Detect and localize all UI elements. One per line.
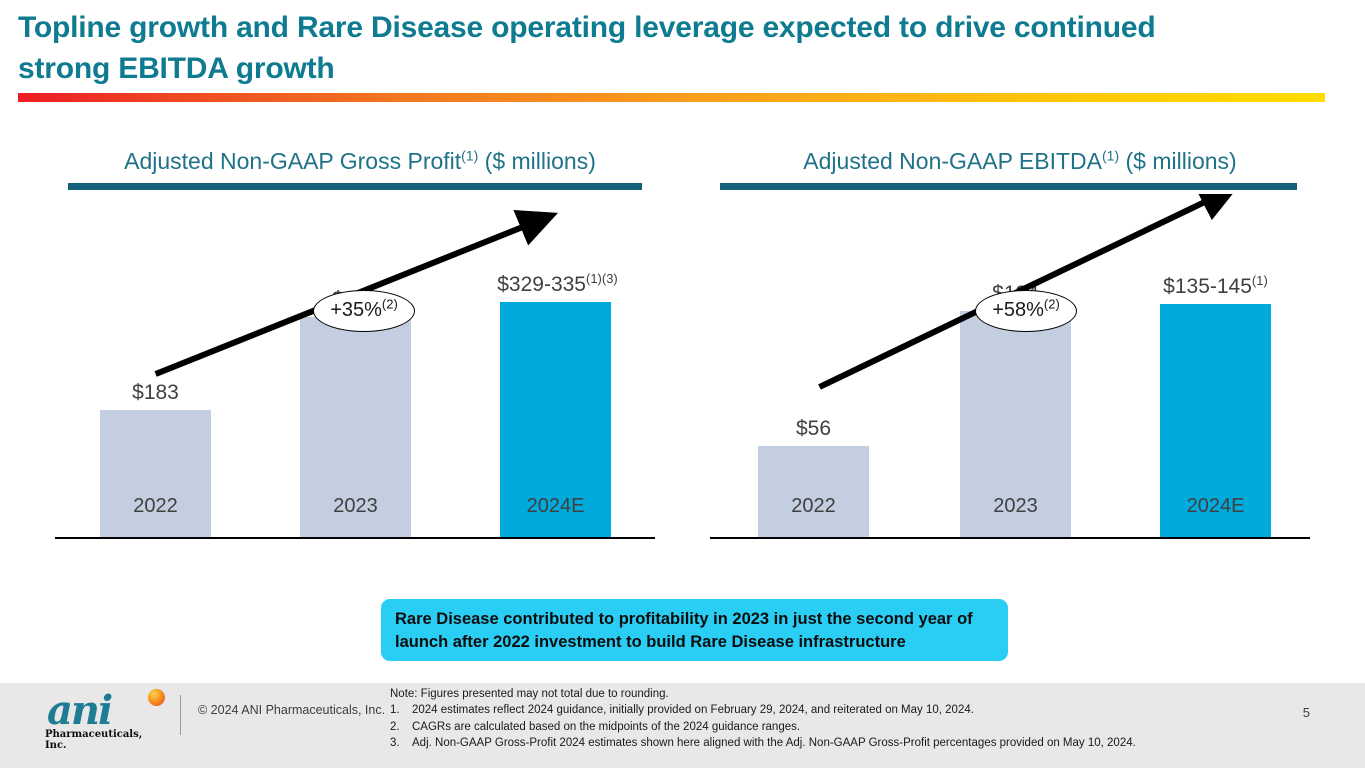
bar-value-sup-2024e: (1) <box>1252 273 1268 288</box>
title-gradient-rule <box>18 93 1325 102</box>
bar-2022 <box>758 446 869 537</box>
footnote-row: 3. Adj. Non-GAAP Gross-Profit 2024 estim… <box>390 735 1260 751</box>
x-axis-line <box>710 537 1310 539</box>
bar-value-label-2022: $56 <box>758 418 869 439</box>
chart-title-underline <box>720 183 1297 190</box>
bar-value-2024e: $135-145 <box>1163 275 1252 298</box>
logo-word-text: ani <box>47 687 111 734</box>
highlight-line-1: Rare Disease contributed to profitabilit… <box>395 608 994 631</box>
copyright-text: © 2024 ANI Pharmaceuticals, Inc. <box>198 703 385 717</box>
footnote-intro: Note: Figures presented may not total du… <box>390 686 1260 702</box>
logo-wordmark: ani <box>47 691 169 731</box>
bar-value-label-2024e: $135-145(1) <box>1138 276 1293 297</box>
chart-title-units: ($ millions) <box>478 148 596 174</box>
bar-value-2022: $183 <box>132 381 179 404</box>
footnote-text: Adj. Non-GAAP Gross-Profit 2024 estimate… <box>412 735 1136 751</box>
logo-dot-icon <box>148 689 165 706</box>
chart-title-text: Adjusted Non-GAAP EBITDA <box>803 148 1102 174</box>
bar-value-label-2024e: $329-335(1)(3) <box>475 274 640 295</box>
chart-panel-gross-profit: Adjusted Non-GAAP Gross Profit(1) ($ mil… <box>55 140 665 580</box>
chart-title-ebitda: Adjusted Non-GAAP EBITDA(1) ($ millions) <box>710 140 1330 173</box>
chart-title-superscript: (1) <box>1102 147 1119 163</box>
cagr-callout-ebitda: +58%(2) <box>975 290 1077 332</box>
bar-value-2024e: $329-335 <box>497 273 586 296</box>
cagr-superscript: (2) <box>1044 296 1060 311</box>
footnotes-block: Note: Figures presented may not total du… <box>390 686 1260 751</box>
footnote-number: 2. <box>390 719 412 735</box>
chart-title-superscript: (1) <box>461 147 478 163</box>
chart-title-gross-profit: Adjusted Non-GAAP Gross Profit(1) ($ mil… <box>55 140 665 173</box>
plot-area-ebitda: $56 $134 $135-145(1) +58%(2) <box>710 194 1330 539</box>
x-axis-label-2024e: 2024E <box>1160 496 1271 516</box>
chart-title-text: Adjusted Non-GAAP Gross Profit <box>124 148 461 174</box>
chart-title-units: ($ millions) <box>1119 148 1237 174</box>
highlight-line-2: launch after 2022 investment to build Ra… <box>395 631 994 654</box>
bar-value-2022: $56 <box>796 417 831 440</box>
x-axis-label-2024e: 2024E <box>500 496 611 516</box>
highlight-callout-box: Rare Disease contributed to profitabilit… <box>381 599 1008 661</box>
plot-area-gross-profit: $183 $310 $329-335(1)(3) +35%(2) <box>55 194 665 539</box>
cagr-callout-gross-profit: +35%(2) <box>313 290 415 332</box>
x-axis-line <box>55 537 655 539</box>
cagr-superscript: (2) <box>382 296 398 311</box>
page-number: 5 <box>1303 705 1310 720</box>
cagr-value: +58% <box>992 299 1044 321</box>
ani-logo: ani Pharmaceuticals, Inc. <box>45 691 167 743</box>
slide-footer: ani Pharmaceuticals, Inc. © 2024 ANI Pha… <box>0 683 1365 768</box>
chart-panel-ebitda: Adjusted Non-GAAP EBITDA(1) ($ millions)… <box>710 140 1330 580</box>
footer-divider <box>180 695 181 735</box>
cagr-value: +35% <box>330 299 382 321</box>
bar-2022 <box>100 410 211 537</box>
x-axis-label-2023: 2023 <box>300 496 411 516</box>
footnote-text: 2024 estimates reflect 2024 guidance, in… <box>412 702 974 718</box>
x-axis-label-2023: 2023 <box>960 496 1071 516</box>
bar-value-sup-2024e: (1)(3) <box>586 271 618 286</box>
footnote-text: CAGRs are calculated based on the midpoi… <box>412 719 800 735</box>
chart-title-underline <box>68 183 642 190</box>
footnote-row: 1. 2024 estimates reflect 2024 guidance,… <box>390 702 1260 718</box>
x-axis-label-2022: 2022 <box>100 496 211 516</box>
footnote-number: 1. <box>390 702 412 718</box>
bar-value-label-2022: $183 <box>100 382 211 403</box>
footnote-number: 3. <box>390 735 412 751</box>
x-axis-label-2022: 2022 <box>758 496 869 516</box>
footnote-row: 2. CAGRs are calculated based on the mid… <box>390 719 1260 735</box>
page-title: Topline growth and Rare Disease operatin… <box>18 8 1218 89</box>
